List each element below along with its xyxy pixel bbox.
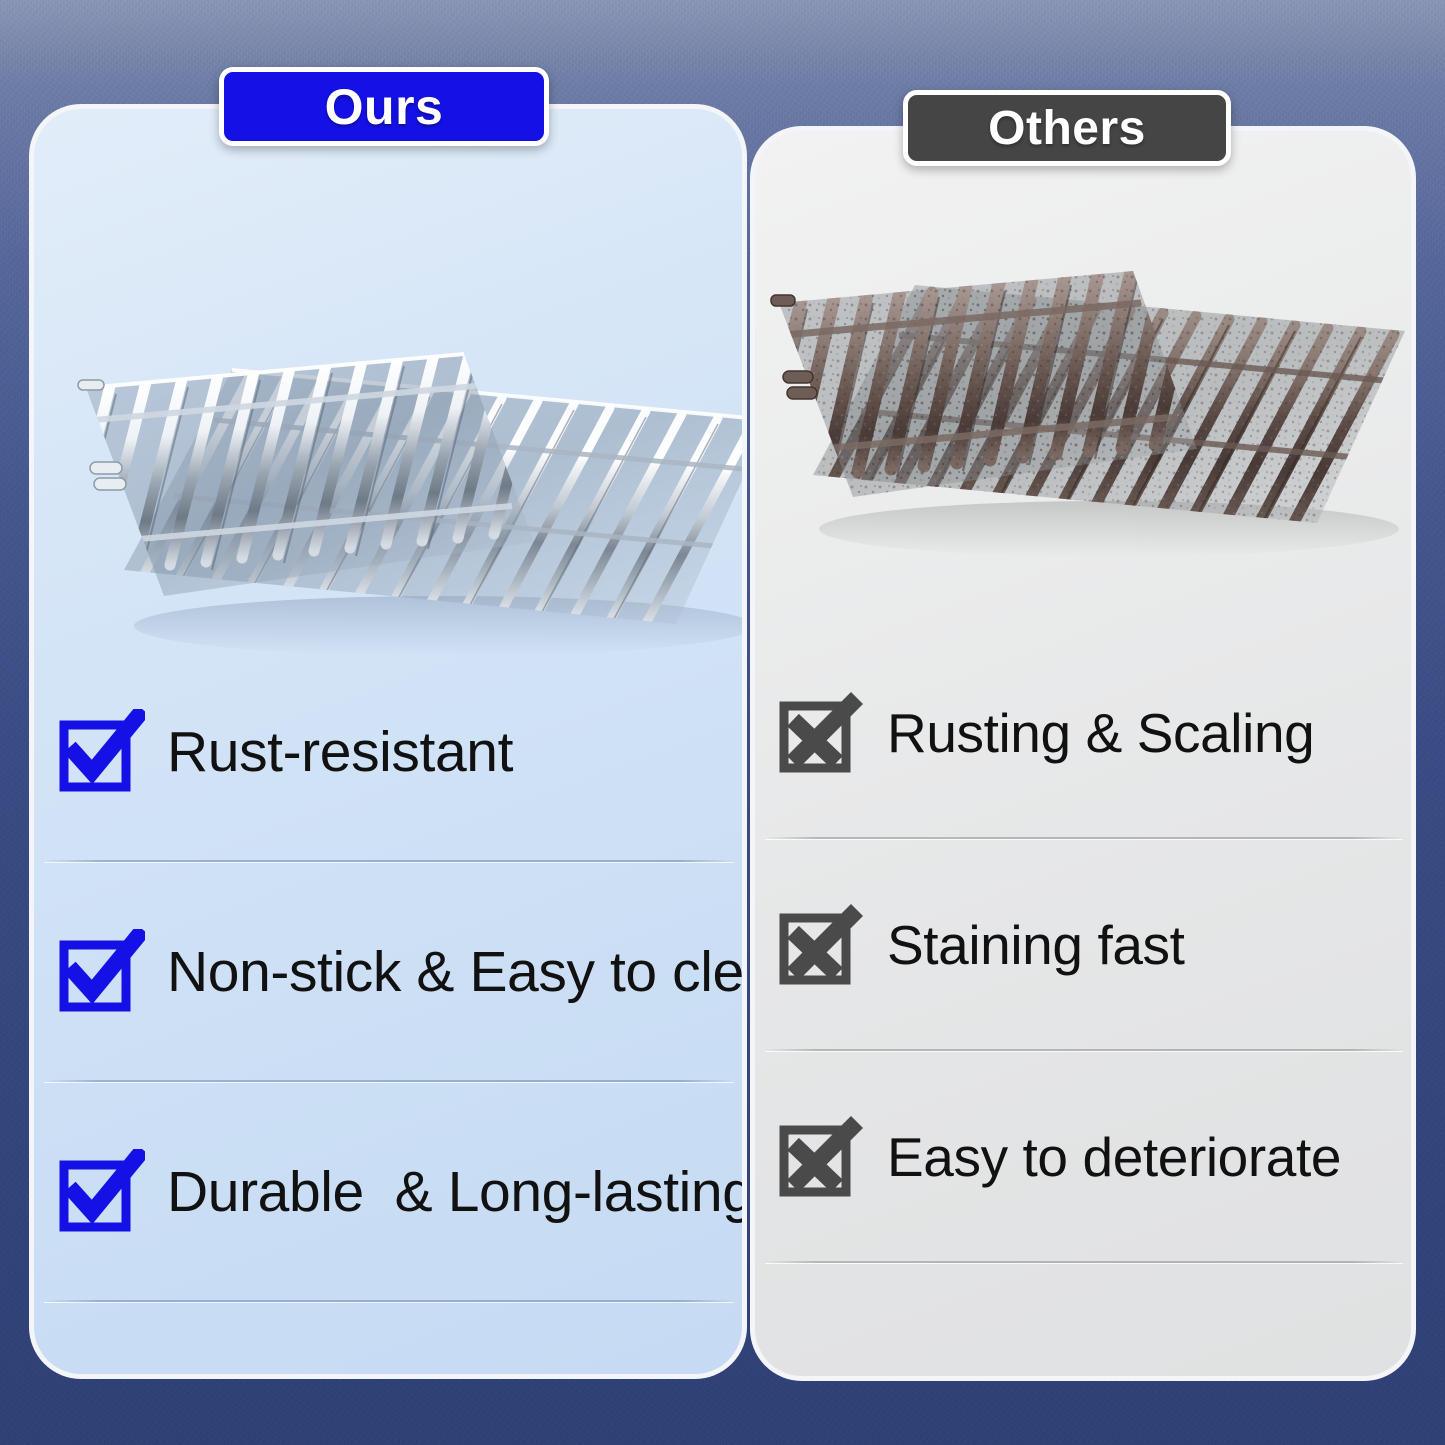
others-feature-list: Rusting & Scaling Staining fast	[755, 627, 1411, 1263]
comparison-infographic: Rust-resistant Non-stick & Easy to clean	[0, 0, 1445, 1445]
ours-feature-list: Rust-resistant Non-stick & Easy to clean	[34, 642, 742, 1302]
others-badge-label: Others	[988, 101, 1146, 156]
others-feature-row: Easy to deteriorate	[755, 1051, 1411, 1263]
others-panel: Rusting & Scaling Staining fast	[750, 126, 1416, 1381]
ours-product-image	[64, 324, 747, 664]
checkbox-checked-icon	[59, 929, 145, 1015]
ours-feature-label: Durable & Long-lasting	[167, 1164, 747, 1221]
ours-badge: Ours	[219, 67, 549, 146]
checkbox-crossed-icon	[779, 690, 865, 776]
ours-badge-label: Ours	[325, 78, 444, 136]
others-product-image	[765, 245, 1413, 565]
others-feature-label: Rusting & Scaling	[887, 706, 1314, 761]
others-feature-row: Staining fast	[755, 839, 1411, 1051]
ours-feature-label: Rust-resistant	[167, 724, 513, 781]
ours-feature-row: Rust-resistant	[34, 642, 742, 862]
others-badge: Others	[903, 90, 1231, 166]
ours-feature-row: Durable & Long-lasting	[34, 1082, 742, 1302]
row-separator	[44, 1300, 734, 1302]
others-feature-row: Rusting & Scaling	[755, 627, 1411, 839]
ours-feature-label: Non-stick & Easy to clean	[167, 944, 747, 1001]
others-feature-label: Staining fast	[887, 918, 1185, 973]
row-separator	[765, 1261, 1403, 1263]
checkbox-checked-icon	[59, 1149, 145, 1235]
others-feature-label: Easy to deteriorate	[887, 1130, 1341, 1185]
checkbox-checked-icon	[59, 709, 145, 795]
ours-panel: Rust-resistant Non-stick & Easy to clean	[29, 104, 747, 1379]
checkbox-crossed-icon	[779, 902, 865, 988]
checkbox-crossed-icon	[779, 1114, 865, 1200]
ours-feature-row: Non-stick & Easy to clean	[34, 862, 742, 1082]
